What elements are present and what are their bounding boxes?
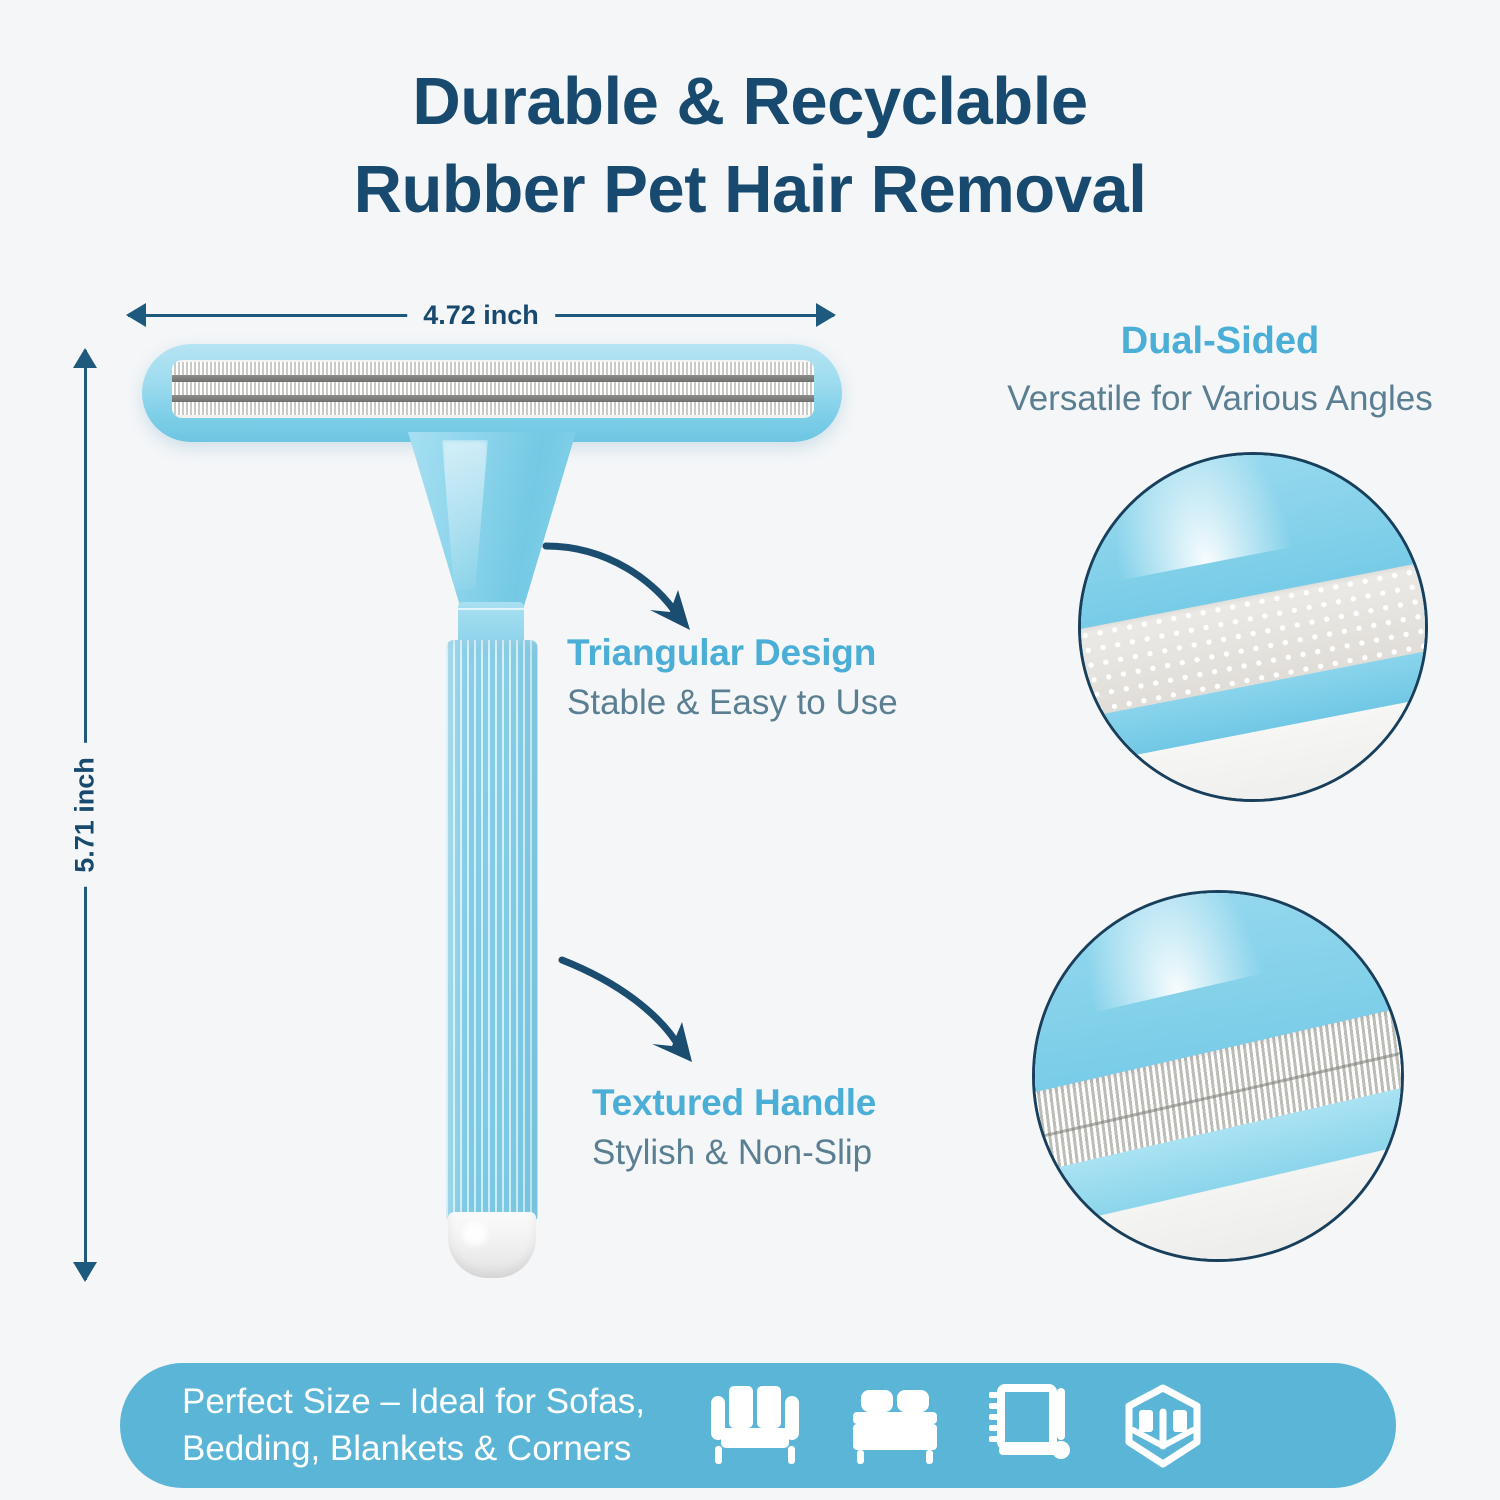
textured-handle	[446, 640, 538, 1220]
arrow-left-icon	[126, 303, 146, 327]
brush-gray-band	[172, 395, 814, 402]
banner-icon-row	[707, 1384, 1205, 1468]
ribbed-surface-photo	[1035, 893, 1401, 1259]
brush-strip	[172, 360, 814, 418]
height-dimension-label: 5.71 inch	[64, 743, 107, 887]
feature-triangular-design: Triangular Design Stable & Easy to Use	[567, 630, 898, 726]
arrow-right-icon	[816, 303, 836, 327]
cap-highlight	[462, 1222, 488, 1246]
dotted-surface-photo	[1081, 455, 1425, 799]
feature-subtitle: Stable & Easy to Use	[567, 680, 898, 726]
sofa-icon	[707, 1384, 803, 1468]
brush-row	[172, 362, 814, 375]
arrow-up-icon	[73, 348, 97, 368]
callout-arrow-textured-icon	[556, 952, 736, 1082]
brush-head	[142, 344, 842, 442]
page-title: Durable & Recyclable Rubber Pet Hair Rem…	[0, 58, 1500, 235]
height-dimension: 5.71 inch	[64, 350, 108, 1280]
feature-title: Textured Handle	[592, 1080, 876, 1126]
brush-row	[172, 382, 814, 395]
banner-line-2: Bedding, Blankets & Corners	[182, 1426, 645, 1473]
detail-circle-ribbed-surface	[1032, 890, 1404, 1262]
end-cap	[448, 1212, 536, 1278]
brush-gray-band	[172, 375, 814, 382]
feature-subtitle: Stylish & Non-Slip	[592, 1130, 876, 1176]
rug-icon	[987, 1384, 1077, 1468]
width-dimension: 4.72 inch	[128, 294, 834, 336]
title-line-1: Durable & Recyclable	[0, 58, 1500, 146]
banner-line-1: Perfect Size – Ideal for Sofas,	[182, 1379, 645, 1426]
brush-row	[172, 402, 814, 415]
infographic-canvas: Durable & Recyclable Rubber Pet Hair Rem…	[0, 0, 1500, 1500]
bottom-banner: Perfect Size – Ideal for Sofas, Bedding,…	[120, 1363, 1396, 1488]
detail-circle-dotted-surface	[1078, 452, 1428, 802]
banner-text: Perfect Size – Ideal for Sofas, Bedding,…	[182, 1379, 645, 1472]
feature-textured-handle: Textured Handle Stylish & Non-Slip	[592, 1080, 876, 1176]
title-line-2: Rubber Pet Hair Removal	[0, 146, 1500, 234]
feature-title: Triangular Design	[567, 630, 898, 676]
arrow-down-icon	[73, 1262, 97, 1282]
dual-sided-subtitle: Versatile for Various Angles	[940, 376, 1500, 422]
width-dimension-label: 4.72 inch	[407, 294, 555, 336]
dual-sided-heading: Dual-Sided Versatile for Various Angles	[940, 318, 1500, 421]
corner-icon	[1121, 1384, 1205, 1468]
dual-sided-title: Dual-Sided	[940, 318, 1500, 366]
bed-icon	[847, 1384, 943, 1468]
